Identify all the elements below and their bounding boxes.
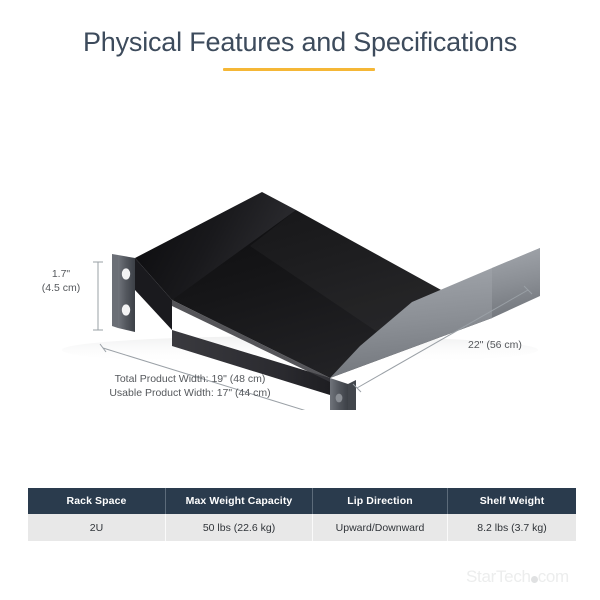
height-dimension-cm: (4.5 cm) <box>30 281 92 295</box>
bracket-hole-bottom <box>122 304 130 315</box>
usable-product-width-label: Usable Product Width: 17" (44 cm) <box>0 386 380 400</box>
table-row: 2U 50 lbs (22.6 kg) Upward/Downward 8.2 … <box>28 514 576 541</box>
watermark-dot-icon <box>531 576 538 583</box>
column-header-rack-space: Rack Space <box>28 488 166 514</box>
specifications-table: Rack Space Max Weight Capacity Lip Direc… <box>28 488 576 541</box>
column-header-max-weight-capacity: Max Weight Capacity <box>166 488 313 514</box>
cell-lip-direction: Upward/Downward <box>313 514 448 541</box>
cell-shelf-weight: 8.2 lbs (3.7 kg) <box>448 514 577 541</box>
cell-max-weight-capacity: 50 lbs (22.6 kg) <box>166 514 313 541</box>
width-dimension-label: Total Product Width: 19" (48 cm) Usable … <box>0 372 380 400</box>
height-dimension-label: 1.7" (4.5 cm) <box>30 267 92 295</box>
column-header-shelf-weight: Shelf Weight <box>448 488 577 514</box>
depth-dimension-label: 22" (56 cm) <box>468 338 522 352</box>
watermark-tld: com <box>538 567 569 586</box>
title-underline-accent <box>223 68 375 71</box>
shelf-lip-rear-section <box>492 248 540 318</box>
cell-rack-space: 2U <box>28 514 166 541</box>
startech-watermark: StarTechcom <box>466 567 569 587</box>
total-product-width-label: Total Product Width: 19" (48 cm) <box>0 372 380 386</box>
watermark-brand: StarTech <box>466 567 531 586</box>
table-header-row: Rack Space Max Weight Capacity Lip Direc… <box>28 488 576 514</box>
left-mounting-bracket <box>112 254 135 332</box>
bracket-hole-top <box>122 268 130 279</box>
height-dimension-inches: 1.7" <box>30 267 92 281</box>
page-title: Physical Features and Specifications <box>0 26 600 58</box>
column-header-lip-direction: Lip Direction <box>313 488 448 514</box>
page-header: Physical Features and Specifications <box>0 26 600 58</box>
